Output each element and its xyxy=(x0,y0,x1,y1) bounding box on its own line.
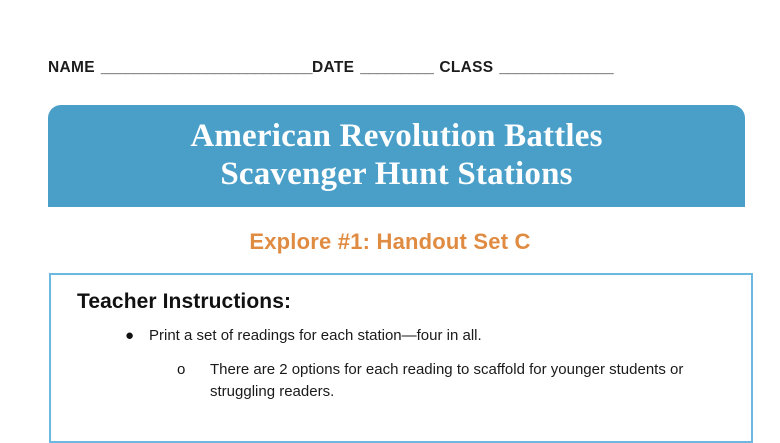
sub-list-item-text: There are 2 options for each reading to … xyxy=(210,359,730,403)
worksheet-page: NAME __________________________ DATE ___… xyxy=(0,0,780,418)
subtitle: Explore #1: Handout Set C xyxy=(0,228,780,256)
list-item: ● Print a set of readings for each stati… xyxy=(77,325,733,347)
name-label: NAME xyxy=(48,59,95,77)
title-banner: American Revolution Battles Scavenger Hu… xyxy=(48,105,745,207)
instructions-heading: Teacher Instructions: xyxy=(77,289,733,315)
title-line-1: American Revolution Battles xyxy=(190,117,602,155)
sub-list-item: o There are 2 options for each reading t… xyxy=(77,359,733,403)
student-info-line: NAME __________________________ DATE ___… xyxy=(48,59,754,83)
bullet-circle-icon: o xyxy=(177,359,210,381)
class-write-rule[interactable]: ______________ xyxy=(499,59,613,77)
date-label: DATE xyxy=(312,59,354,77)
class-label: CLASS xyxy=(439,59,493,77)
title-line-2: Scavenger Hunt Stations xyxy=(220,155,572,193)
name-write-rule[interactable]: __________________________ xyxy=(101,59,312,77)
bullet-dot-icon: ● xyxy=(125,325,149,347)
date-write-rule[interactable]: _________ xyxy=(360,59,433,77)
list-item-text: Print a set of readings for each station… xyxy=(149,325,482,347)
